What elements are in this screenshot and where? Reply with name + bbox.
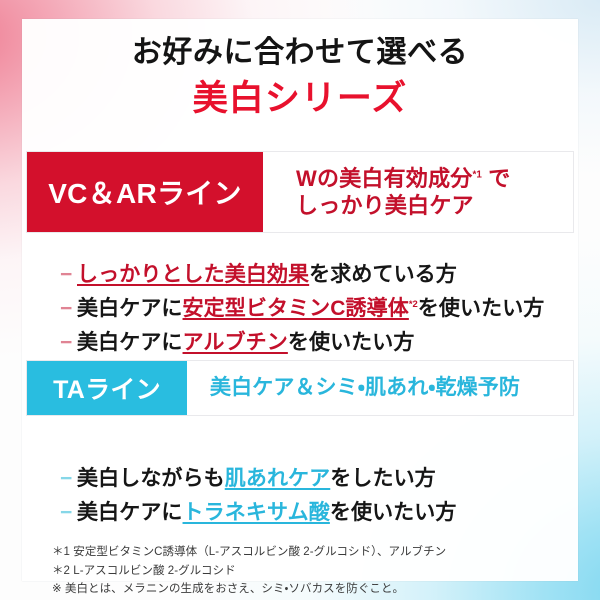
list-item-emphasis: しっかりとした美白効果 bbox=[77, 263, 309, 286]
line-tagline-vcar-row1: Wの美白有効成分*1 で bbox=[296, 165, 573, 192]
list-item-emphasis-text: 安定型ビタミンC誘導体 bbox=[183, 297, 409, 320]
list-item: −美白ケアに安定型ビタミンC誘導体*2を使いたい方 bbox=[60, 292, 544, 326]
bullet-dash-icon: − bbox=[60, 326, 77, 360]
list-item: −美白ケアにアルブチンを使いたい方 bbox=[60, 326, 544, 360]
list-item-emphasis: アルブチン bbox=[183, 331, 288, 354]
line-chip-vcar: VC＆ARライン bbox=[27, 152, 263, 232]
list-item-emphasis-text: アルブチン bbox=[183, 331, 288, 354]
benefit-list-vcar: −しっかりとした美白効果を求めている方−美白ケアに安定型ビタミンC誘導体*2を使… bbox=[60, 258, 544, 360]
list-item-suffix: を求めている方 bbox=[309, 263, 457, 286]
footnote-marker-1: *1 bbox=[473, 169, 482, 180]
list-item-text: 美白ケアに安定型ビタミンC誘導体*2を使いたい方 bbox=[77, 292, 544, 326]
list-item-suffix: を使いたい方 bbox=[330, 501, 457, 524]
footnotes: ＊1 安定型ビタミンC誘導体（L-アスコルビン酸 2-グルコシド）、アルブチン＊… bbox=[52, 543, 446, 599]
line-banner-vcar: VC＆ARライン Wの美白有効成分*1 で しっかり美白ケア bbox=[26, 151, 574, 233]
line-tagline-ta: 美白ケア＆シミ・肌あれ・乾燥予防 bbox=[187, 361, 573, 415]
page-title-line1: お好みに合わせて選べる bbox=[22, 33, 578, 73]
list-item-suffix: を使いたい方 bbox=[418, 297, 545, 320]
benefit-list-ta: −美白しながらも肌あれケアをしたい方−美白ケアにトラネキサム酸を使いたい方 bbox=[60, 462, 457, 530]
line-tagline-vcar-row2: しっかり美白ケア bbox=[296, 192, 573, 219]
list-item-emphasis: 安定型ビタミンC誘導体 bbox=[183, 297, 409, 320]
list-item-prefix: 美白ケアに bbox=[77, 501, 183, 524]
list-item-prefix: 美白ケアに bbox=[77, 297, 183, 320]
content-card: お好みに合わせて選べる 美白シリーズ VC＆ARライン Wの美白有効成分*1 で… bbox=[22, 19, 578, 581]
line-tagline-ta-row1: 美白ケア＆シミ・肌あれ・乾燥予防 bbox=[210, 375, 573, 400]
line-tagline-vcar-text-b: で bbox=[482, 166, 511, 191]
list-item-prefix: 美白しながらも bbox=[77, 467, 225, 490]
list-item: −美白しながらも肌あれケアをしたい方 bbox=[60, 462, 457, 496]
list-item: −美白ケアにトラネキサム酸を使いたい方 bbox=[60, 496, 457, 530]
list-item-emphasis-text: 肌あれケア bbox=[225, 467, 331, 490]
page-title: お好みに合わせて選べる 美白シリーズ bbox=[22, 33, 578, 122]
footnote-line: ＊1 安定型ビタミンC誘導体（L-アスコルビン酸 2-グルコシド）、アルブチン bbox=[52, 543, 446, 562]
bullet-dash-icon: − bbox=[60, 462, 77, 496]
list-item-text: 美白しながらも肌あれケアをしたい方 bbox=[77, 462, 436, 496]
list-item-emphasis-text: トラネキサム酸 bbox=[183, 501, 330, 524]
list-item-prefix: 美白ケアに bbox=[77, 331, 183, 354]
line-tagline-vcar: Wの美白有効成分*1 で しっかり美白ケア bbox=[263, 152, 573, 232]
line-chip-ta: TAライン bbox=[27, 361, 187, 415]
page-title-line2: 美白シリーズ bbox=[22, 76, 578, 122]
list-item-emphasis-text: しっかりとした美白効果 bbox=[77, 263, 309, 286]
list-item-text: 美白ケアにアルブチンを使いたい方 bbox=[77, 326, 415, 360]
list-item-emphasis: 肌あれケア bbox=[225, 467, 331, 490]
list-item-suffix: をしたい方 bbox=[330, 467, 436, 490]
bullet-dash-icon: − bbox=[60, 496, 77, 530]
footnote-line: ＊2 L-アスコルビン酸 2-グルコシド bbox=[52, 562, 446, 581]
list-item-text: しっかりとした美白効果を求めている方 bbox=[77, 258, 457, 292]
bullet-dash-icon: − bbox=[60, 292, 77, 326]
footnote-line: ※ 美白とは、メラニンの生成をおさえ、シミ・ソバカスを防ぐこと。 bbox=[52, 580, 446, 599]
footnote-marker-2: *2 bbox=[409, 299, 418, 310]
list-item: −しっかりとした美白効果を求めている方 bbox=[60, 258, 544, 292]
list-item-emphasis: トラネキサム酸 bbox=[183, 501, 330, 524]
bullet-dash-icon: − bbox=[60, 258, 77, 292]
line-banner-ta: TAライン 美白ケア＆シミ・肌あれ・乾燥予防 bbox=[26, 360, 574, 416]
list-item-text: 美白ケアにトラネキサム酸を使いたい方 bbox=[77, 496, 457, 530]
list-item-suffix: を使いたい方 bbox=[288, 331, 415, 354]
infographic-canvas: お好みに合わせて選べる 美白シリーズ VC＆ARライン Wの美白有効成分*1 で… bbox=[0, 0, 600, 600]
line-tagline-vcar-text-a: Wの美白有効成分 bbox=[296, 166, 473, 191]
